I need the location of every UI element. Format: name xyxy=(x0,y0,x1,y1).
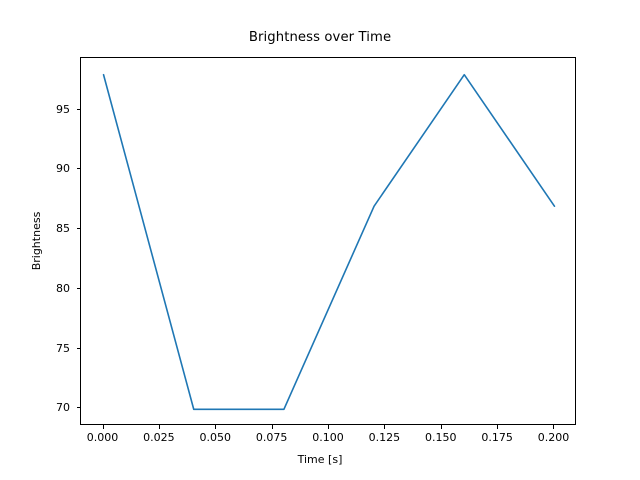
chart-title: Brightness over Time xyxy=(0,30,640,45)
x-tick-label: 0.125 xyxy=(354,431,414,444)
y-tick: 95 xyxy=(0,103,80,117)
x-tick-label: 0.025 xyxy=(129,431,189,444)
x-tick-label: 0.200 xyxy=(523,431,583,444)
x-axis-label: Time [s] xyxy=(0,453,640,466)
y-tick: 85 xyxy=(0,222,80,236)
x-tick-label: 0.150 xyxy=(411,431,471,444)
y-tick-label: 70 xyxy=(56,401,70,415)
y-tick: 70 xyxy=(0,401,80,415)
y-tick-label: 90 xyxy=(56,162,70,176)
chart-figure: Brightness over Time Brightness Time [s]… xyxy=(0,0,640,480)
x-tick-label: 0.175 xyxy=(467,431,527,444)
y-tick: 90 xyxy=(0,162,80,176)
y-tick-label: 80 xyxy=(56,282,70,296)
y-tick: 75 xyxy=(0,342,80,356)
plot-area xyxy=(80,57,576,425)
y-tick-label: 85 xyxy=(56,222,70,236)
x-tick-label: 0.100 xyxy=(298,431,358,444)
y-tick-label: 95 xyxy=(56,103,70,117)
x-tick-label: 0.000 xyxy=(73,431,133,444)
x-tick-label: 0.075 xyxy=(242,431,302,444)
data-series-line xyxy=(104,75,555,410)
y-tick-label: 75 xyxy=(56,342,70,356)
y-tick: 80 xyxy=(0,282,80,296)
data-line-svg xyxy=(81,58,577,426)
x-tick-label: 0.050 xyxy=(185,431,245,444)
